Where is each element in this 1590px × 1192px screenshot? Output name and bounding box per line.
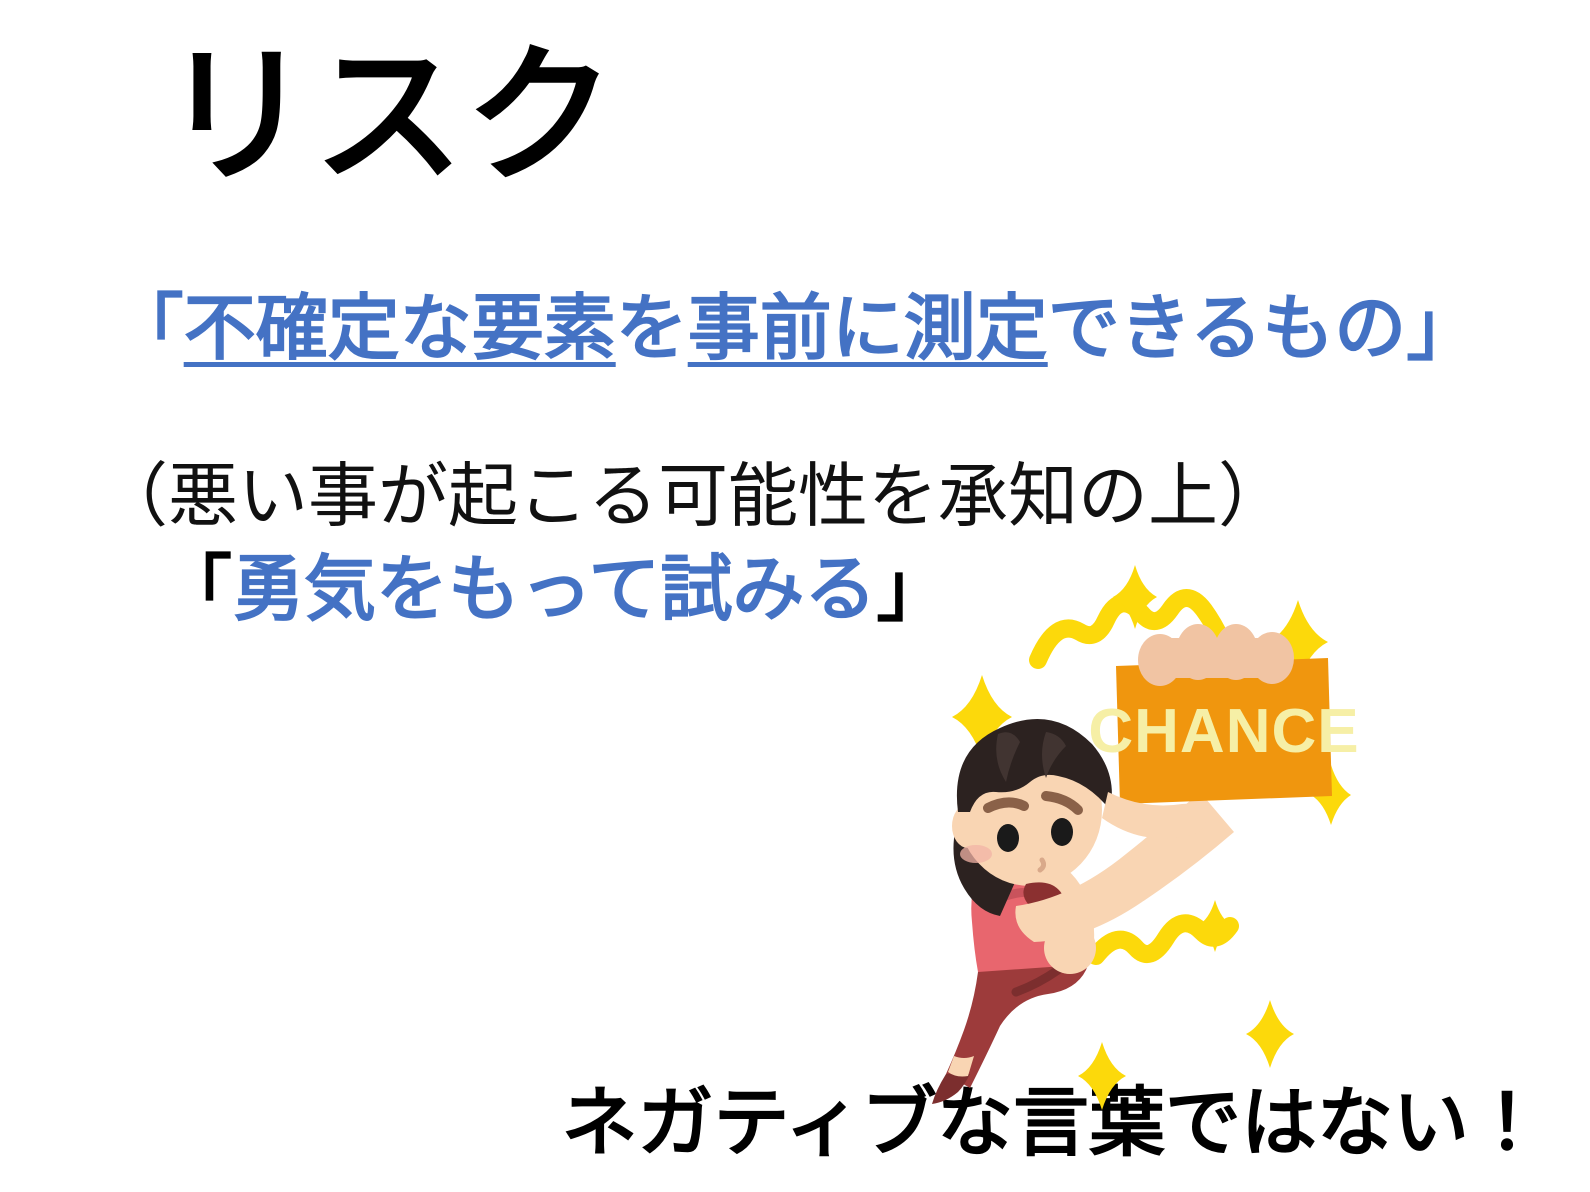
shoe-shape xyxy=(932,1074,970,1104)
definition-plain-1: を xyxy=(616,289,688,369)
page-title: リスク xyxy=(162,38,617,196)
eye-icon xyxy=(997,824,1019,852)
definition-underlined-1: 不確定な要素 xyxy=(184,289,616,369)
chance-sign-label: CHANCE xyxy=(1088,697,1359,766)
sparkle-icon xyxy=(1078,1042,1126,1110)
blush-shape xyxy=(960,845,992,863)
courage-line: 「勇気をもって試みる」 xyxy=(160,548,948,633)
courage-inner-text: 勇気をもって試みる xyxy=(232,550,876,630)
definition-open-bracket: 「 xyxy=(112,289,184,369)
chance-illustration: CHANCE xyxy=(920,520,1480,1120)
definition-underlined-2: 事前に測定 xyxy=(688,289,1048,369)
sparkle-icon xyxy=(1197,900,1233,952)
courage-open-bracket: 「 xyxy=(160,550,232,630)
definition-close-bracket: 」 xyxy=(1406,289,1478,369)
definition-line: 「不確定な要素を事前に測定できるもの」 xyxy=(0,287,1590,372)
chance-sign: CHANCE xyxy=(1088,658,1359,804)
slide-canvas: リスク 「不確定な要素を事前に測定できるもの」 （悪い事が起こる可能性を承知の上… xyxy=(0,0,1590,1192)
definition-plain-2: できるもの xyxy=(1048,289,1407,369)
eyebrow-icon xyxy=(988,802,1024,808)
sparkle-icon xyxy=(1246,1000,1294,1068)
chance-illustration-svg: CHANCE xyxy=(920,520,1480,1120)
eye-icon xyxy=(1051,818,1073,846)
